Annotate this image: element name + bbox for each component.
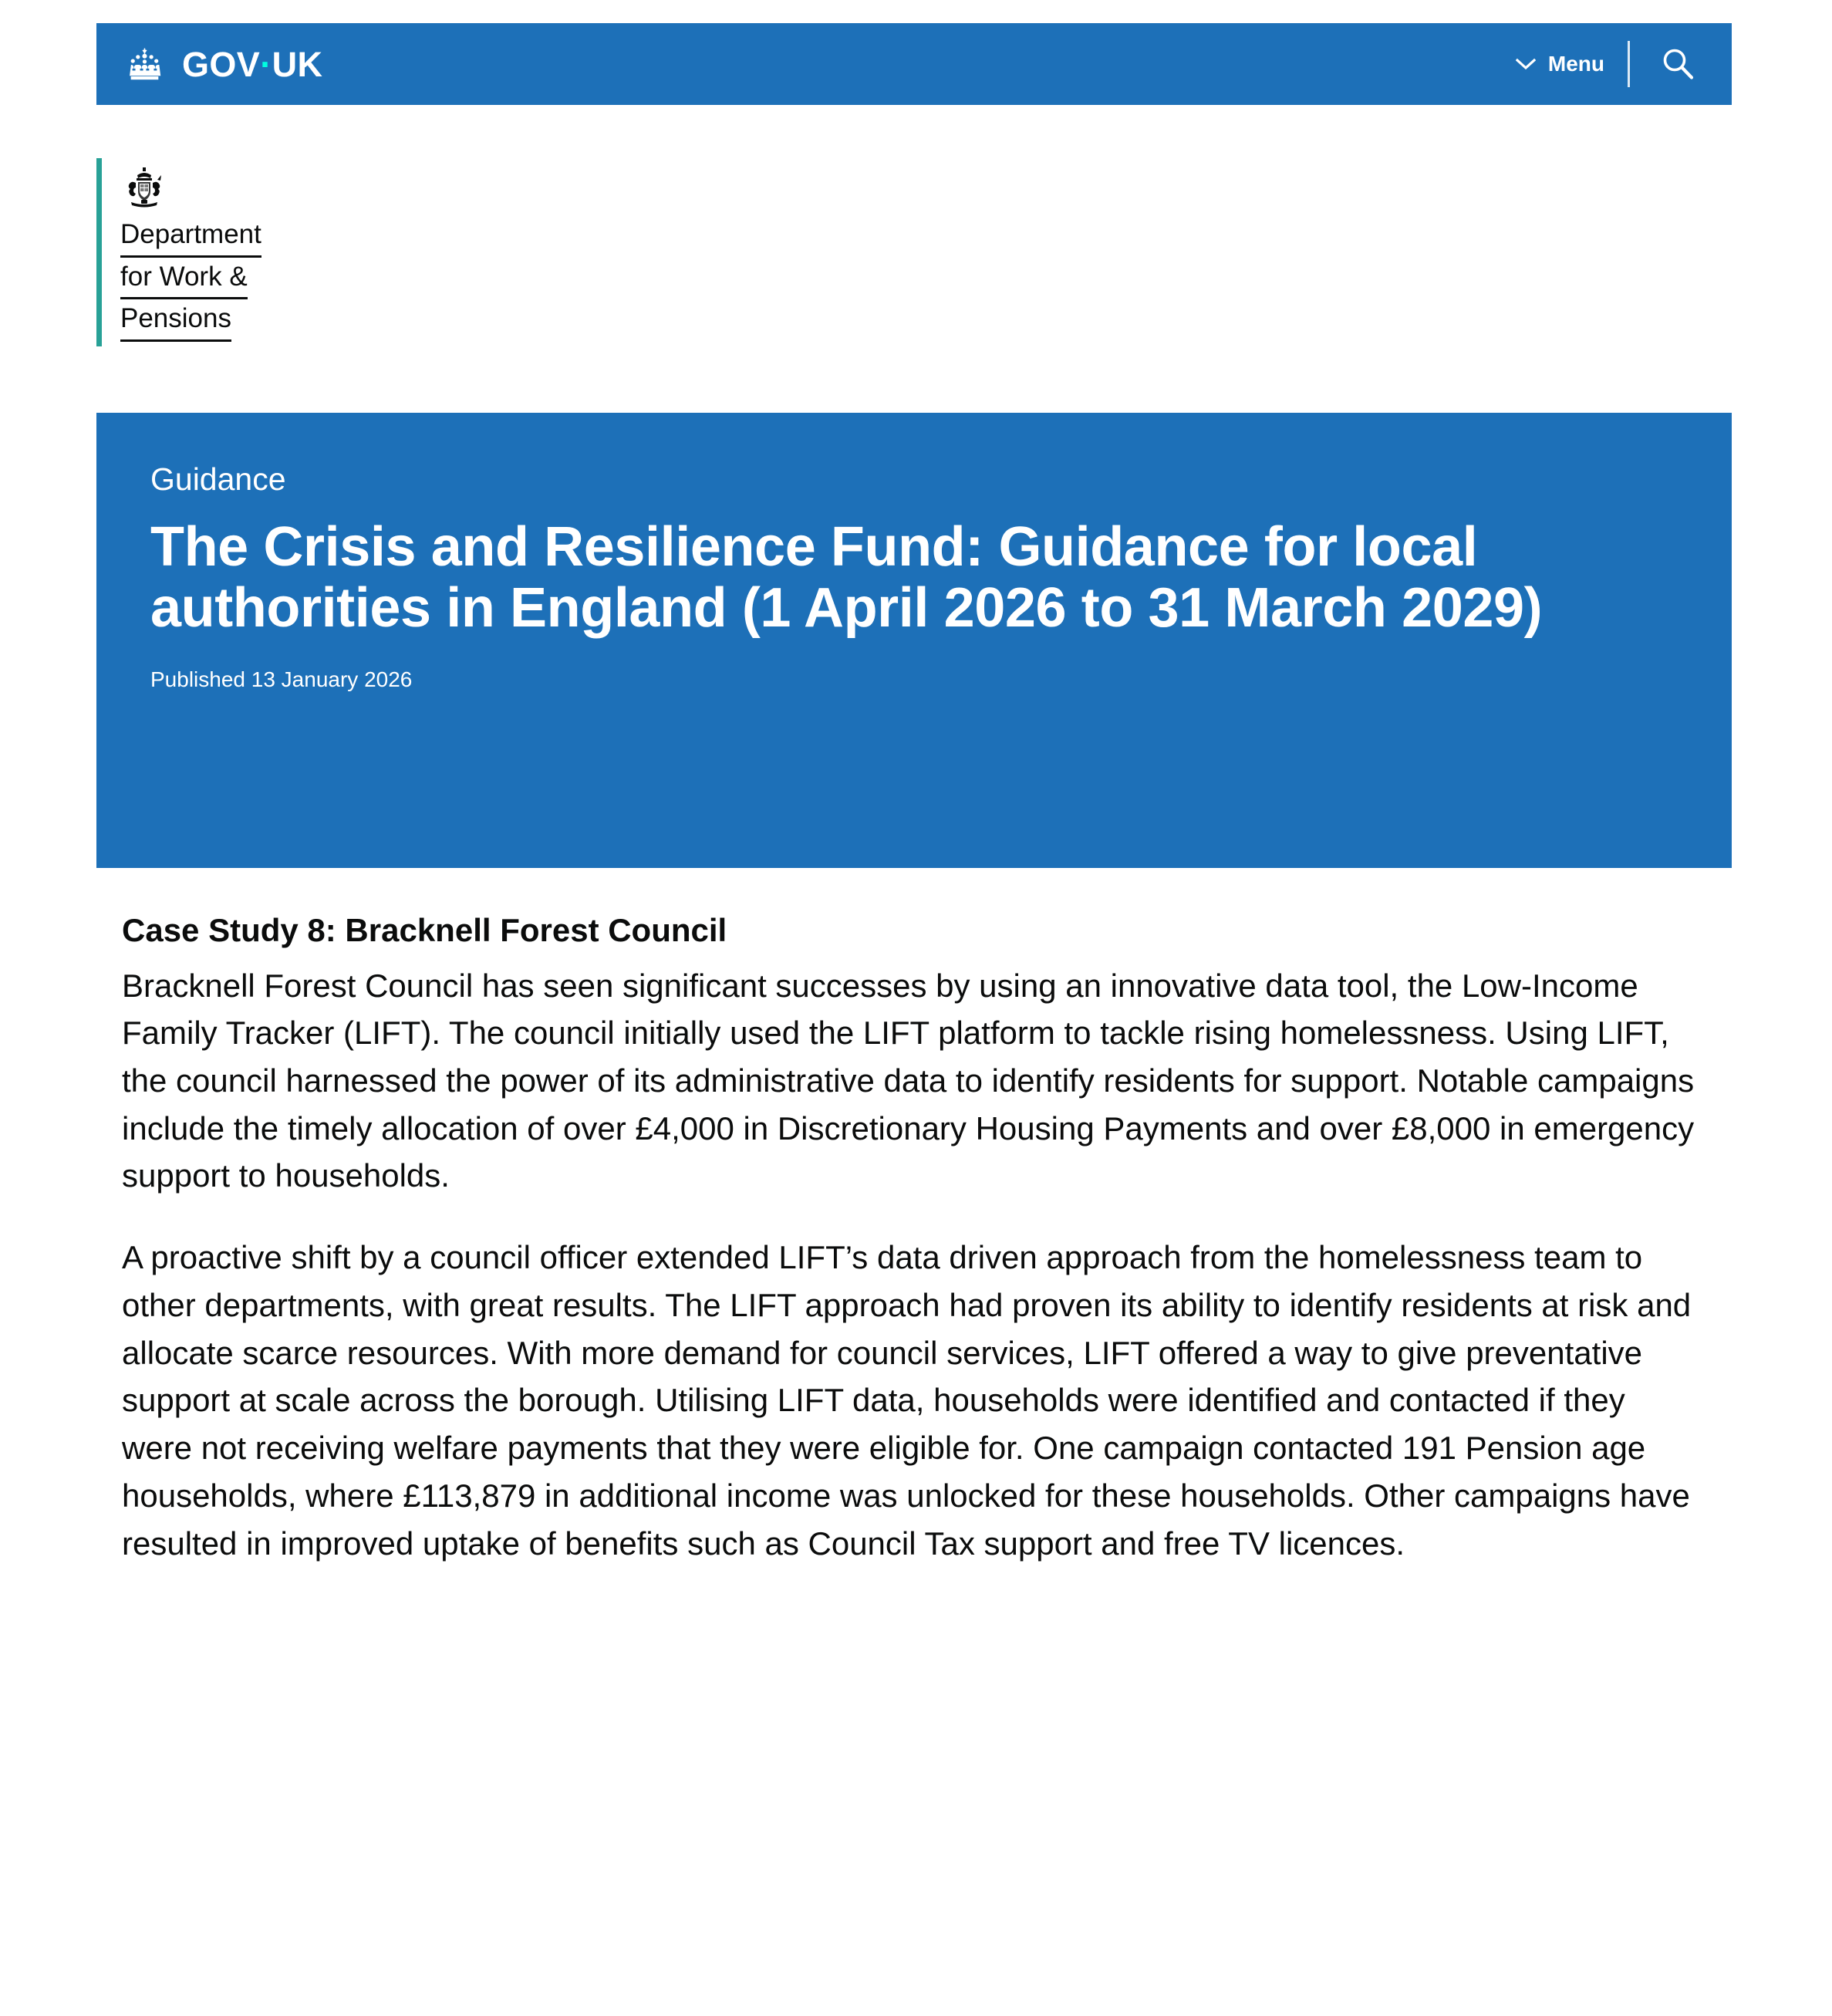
menu-button[interactable]: Menu [1516, 23, 1628, 105]
org-name-line: Department [120, 215, 261, 258]
main-content: Case Study 8: Bracknell Forest Council B… [122, 910, 1711, 1567]
body-paragraph: A proactive shift by a council officer e… [122, 1234, 1699, 1567]
header-actions: Menu [1516, 23, 1732, 105]
document-type-label: Guidance [150, 461, 1685, 498]
crown-icon [125, 48, 165, 80]
page-root: GOV·UK Menu [0, 0, 1832, 2016]
royal-coat-of-arms-icon [120, 166, 261, 211]
menu-label: Menu [1548, 52, 1604, 76]
publication-title-banner: Guidance The Crisis and Resilience Fund:… [96, 413, 1732, 868]
govuk-header: GOV·UK Menu [96, 23, 1732, 105]
organisation-logo: Department for Work & Pensions [96, 158, 261, 346]
govuk-wordmark: GOV·UK [182, 47, 322, 82]
case-study-heading: Case Study 8: Bracknell Forest Council [122, 910, 1711, 951]
org-name-line: for Work & [120, 258, 248, 300]
body-paragraph: Bracknell Forest Council has seen signif… [122, 962, 1699, 1200]
page-title: The Crisis and Resilience Fund: Guidance… [150, 517, 1678, 639]
chevron-down-icon [1516, 58, 1536, 70]
search-button[interactable] [1655, 41, 1701, 87]
published-date: Published 13 January 2026 [150, 666, 1685, 694]
organisation-name-link[interactable]: Department for Work & Pensions [120, 215, 261, 342]
org-name-line: Pensions [120, 299, 231, 342]
govuk-logo-link[interactable]: GOV·UK [125, 47, 322, 82]
logo-dot: · [260, 45, 272, 84]
header-divider [1628, 41, 1630, 87]
search-icon [1661, 47, 1695, 81]
